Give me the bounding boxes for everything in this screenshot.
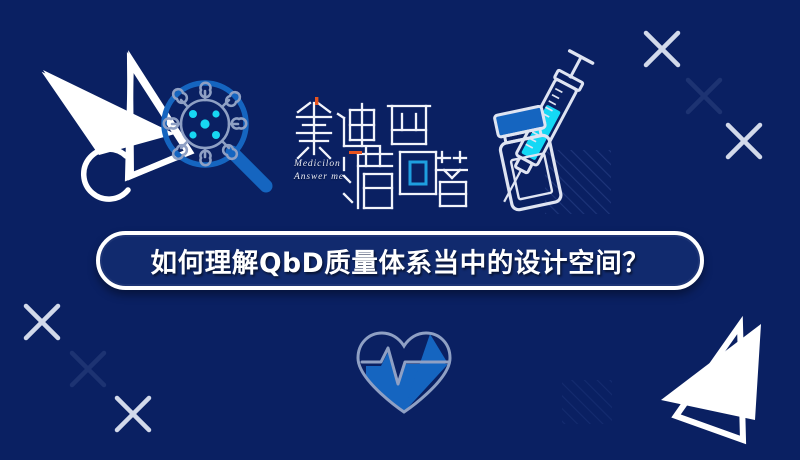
brand-latin-line2: Answer me — [294, 171, 390, 184]
brand-latin-text: Medicilon Answer me — [294, 158, 390, 183]
magnifier-virus-icon — [164, 83, 266, 186]
virus-dots — [189, 110, 220, 139]
cross-mark-right-3 — [728, 125, 760, 157]
triangle-top-left-ghost — [128, 60, 190, 177]
decoration-layer — [0, 0, 800, 460]
virus-glyph — [164, 83, 246, 165]
cross-mark-right-1 — [646, 33, 678, 65]
triangle-top-left-filled — [42, 72, 172, 153]
logo-char-di — [338, 104, 380, 146]
syringe-icon — [492, 50, 594, 208]
title-pill: 如何理解QbD质量体系当中的设计空间？ — [96, 231, 704, 290]
logo-char-da — [436, 152, 468, 206]
brand-logo: Medicilon Answer me — [288, 96, 468, 214]
brand-logo-glyphs — [288, 96, 468, 214]
triangle-top-left-outline — [128, 62, 188, 176]
logo-char-xi — [388, 106, 430, 144]
banner-canvas: Medicilon Answer me 如何理解QbD质量体系当中的设计空间？ — [0, 0, 800, 460]
arc-decoration — [84, 149, 128, 199]
cross-mark-right-2 — [688, 80, 720, 112]
cross-mark-left-2 — [72, 353, 104, 385]
icon-layer — [0, 0, 800, 460]
logo-hui-inner-square — [410, 162, 426, 184]
cross-mark-left-1 — [26, 306, 58, 338]
triangle-top-left-main — [43, 70, 175, 155]
brand-latin-line1: Medicilon — [294, 158, 390, 171]
page-title: 如何理解QbD质量体系当中的设计空间？ — [151, 241, 650, 280]
triangle-bottom-right-main — [661, 324, 761, 420]
heartbeat-icon — [358, 333, 450, 412]
logo-char-hui — [400, 152, 436, 194]
cross-mark-left-3 — [117, 398, 149, 430]
triangle-bottom-right-ghost — [676, 325, 743, 440]
vial-icon — [493, 106, 562, 211]
logo-char-mei — [297, 103, 331, 158]
